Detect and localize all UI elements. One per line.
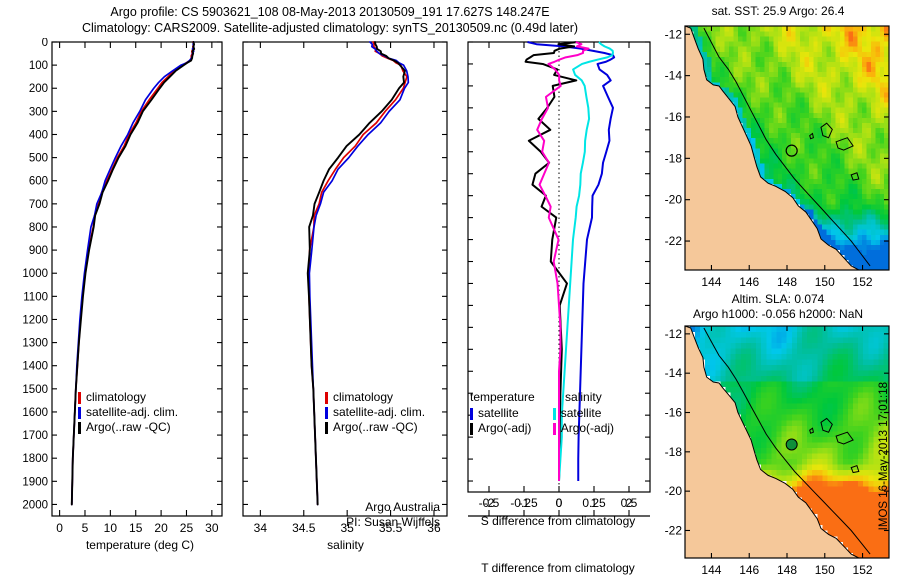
sst-map-panel: 144146148150152-12-14-16-18-20-22: [655, 22, 895, 292]
svg-text:15: 15: [129, 521, 143, 535]
attribution: Argo Australia PI: Susan Wijffels: [250, 500, 440, 530]
svg-text:144: 144: [701, 563, 721, 577]
legend-swatch: [78, 392, 81, 404]
legend-swatch: [553, 423, 556, 435]
legend-item: Argo(..raw -QC): [78, 420, 178, 435]
svg-text:-12: -12: [665, 327, 683, 341]
temperature-panel: 0100200300400500600700800900100011001200…: [0, 38, 230, 538]
svg-text:700: 700: [29, 199, 48, 211]
legend-swatch: [325, 392, 328, 404]
difference-top-axis-label: S difference from climatology: [462, 514, 654, 528]
attribution-line-1: Argo Australia: [250, 500, 440, 515]
svg-text:1900: 1900: [22, 476, 48, 488]
salinity-plot[interactable]: 3434.53535.536: [233, 38, 455, 538]
svg-text:500: 500: [29, 153, 48, 165]
svg-text:-18: -18: [665, 445, 683, 459]
legend-swatch: [553, 408, 556, 420]
svg-text:1: 1: [591, 496, 598, 510]
svg-text:-20: -20: [665, 193, 683, 207]
legend-item: satellite: [553, 406, 614, 421]
legend-swatch: [325, 422, 328, 434]
svg-text:800: 800: [29, 222, 48, 234]
svg-text:-1: -1: [519, 496, 530, 510]
legend-swatch: [470, 423, 473, 435]
svg-text:-12: -12: [665, 27, 683, 41]
legend-item: Argo(-adj): [470, 421, 535, 436]
svg-text:1400: 1400: [22, 361, 48, 373]
svg-text:2: 2: [626, 496, 633, 510]
salinity-legend: climatologysatellite-adj. clim.Argo(..ra…: [325, 390, 425, 435]
legend-label: climatology: [333, 390, 393, 405]
svg-text:0: 0: [42, 38, 48, 49]
svg-text:200: 200: [29, 83, 48, 95]
legend-swatch: [78, 407, 81, 419]
svg-text:146: 146: [739, 563, 759, 577]
svg-text:152: 152: [853, 275, 873, 289]
temperature-legend: climatologysatellite-adj. clim.Argo(..ra…: [78, 390, 178, 435]
svg-text:1800: 1800: [22, 453, 48, 465]
svg-text:300: 300: [29, 106, 48, 118]
legend-item: satellite-adj. clim.: [78, 405, 178, 420]
difference-legend: temperaturesatelliteArgo(-adj)salinitysa…: [470, 390, 655, 436]
svg-text:-16: -16: [665, 406, 683, 420]
svg-text:0: 0: [556, 496, 563, 510]
legend-item: satellite: [470, 406, 535, 421]
temperature-plot[interactable]: 0100200300400500600700800900100011001200…: [0, 38, 230, 538]
sla-map-title: Altim. SLA: 0.074 Argo h1000: -0.056 h20…: [662, 292, 894, 322]
svg-text:148: 148: [777, 563, 797, 577]
svg-text:1700: 1700: [22, 430, 48, 442]
svg-text:152: 152: [853, 563, 873, 577]
timestamp-stamp: IMOS 16-May-2013 17:01:18: [878, 382, 890, 530]
svg-text:150: 150: [815, 275, 835, 289]
legend-item: climatology: [325, 390, 425, 405]
legend-label: Argo(..raw -QC): [333, 420, 418, 435]
legend-label: satellite-adj. clim.: [86, 405, 178, 420]
svg-text:1000: 1000: [22, 268, 48, 280]
svg-text:146: 146: [739, 275, 759, 289]
svg-text:10: 10: [104, 521, 118, 535]
legend-group-title: temperature: [470, 390, 535, 405]
sla-map[interactable]: 144146148150152-12-14-16-18-20-22: [655, 322, 895, 580]
legend-label: satellite-adj. clim.: [333, 405, 425, 420]
difference-bottom-axis-label: T difference from climatology: [462, 561, 654, 575]
title-line-1: Argo profile: CS 5903621_108 08-May-2013…: [0, 4, 660, 20]
title-line-2: Climatology: CARS2009. Satellite-adjuste…: [0, 20, 660, 36]
svg-text:1600: 1600: [22, 407, 48, 419]
legend-item: Argo(..raw -QC): [325, 420, 425, 435]
legend-label: Argo(..raw -QC): [86, 420, 171, 435]
svg-text:-16: -16: [665, 110, 683, 124]
sst-map-title: sat. SST: 25.9 Argo: 26.4: [662, 4, 894, 19]
difference-plot[interactable]: -0.5-0.2500.250.5-2-1012: [458, 38, 658, 538]
svg-text:1500: 1500: [22, 384, 48, 396]
svg-text:-18: -18: [665, 151, 683, 165]
legend-item: Argo(-adj): [553, 421, 614, 436]
legend-item: climatology: [78, 390, 178, 405]
svg-text:-14: -14: [665, 69, 683, 83]
legend-swatch: [325, 407, 328, 419]
legend-group: salinitysatelliteArgo(-adj): [553, 390, 614, 436]
salinity-axis-label: salinity: [243, 538, 448, 552]
svg-text:400: 400: [29, 129, 48, 141]
svg-text:1100: 1100: [23, 291, 48, 303]
svg-text:25: 25: [180, 521, 194, 535]
legend-label: Argo(-adj): [478, 421, 531, 436]
temperature-axis-label: temperature (deg C): [55, 538, 225, 552]
svg-text:20: 20: [154, 521, 168, 535]
svg-text:900: 900: [29, 245, 48, 257]
salinity-panel: 3434.53535.536: [233, 38, 455, 538]
legend-label: satellite: [561, 406, 602, 421]
svg-text:5: 5: [82, 521, 89, 535]
attribution-line-2: PI: Susan Wijffels: [250, 515, 440, 530]
svg-text:0: 0: [56, 521, 63, 535]
svg-text:100: 100: [29, 60, 48, 72]
svg-text:148: 148: [777, 275, 797, 289]
svg-text:2000: 2000: [22, 499, 48, 511]
legend-group-title: salinity: [553, 390, 614, 405]
legend-swatch: [78, 422, 81, 434]
svg-text:144: 144: [701, 275, 721, 289]
svg-text:30: 30: [205, 521, 219, 535]
svg-text:-2: -2: [484, 496, 495, 510]
legend-swatch: [470, 408, 473, 420]
svg-text:-22: -22: [665, 234, 683, 248]
legend-label: climatology: [86, 390, 146, 405]
svg-text:600: 600: [29, 176, 48, 188]
svg-text:-14: -14: [665, 366, 683, 380]
svg-text:1200: 1200: [22, 314, 48, 326]
svg-text:-22: -22: [665, 523, 683, 537]
sla-map-panel: 144146148150152-12-14-16-18-20-22: [655, 322, 895, 580]
svg-text:1300: 1300: [22, 338, 48, 350]
svg-text:-20: -20: [665, 484, 683, 498]
legend-label: satellite: [478, 406, 519, 421]
sst-map[interactable]: 144146148150152-12-14-16-18-20-22: [655, 22, 895, 292]
legend-group: temperaturesatelliteArgo(-adj): [470, 390, 535, 436]
legend-label: Argo(-adj): [561, 421, 614, 436]
legend-item: satellite-adj. clim.: [325, 405, 425, 420]
svg-text:150: 150: [815, 563, 835, 577]
difference-panel: -0.5-0.2500.250.5-2-1012: [458, 38, 658, 538]
page-title: Argo profile: CS 5903621_108 08-May-2013…: [0, 4, 660, 36]
